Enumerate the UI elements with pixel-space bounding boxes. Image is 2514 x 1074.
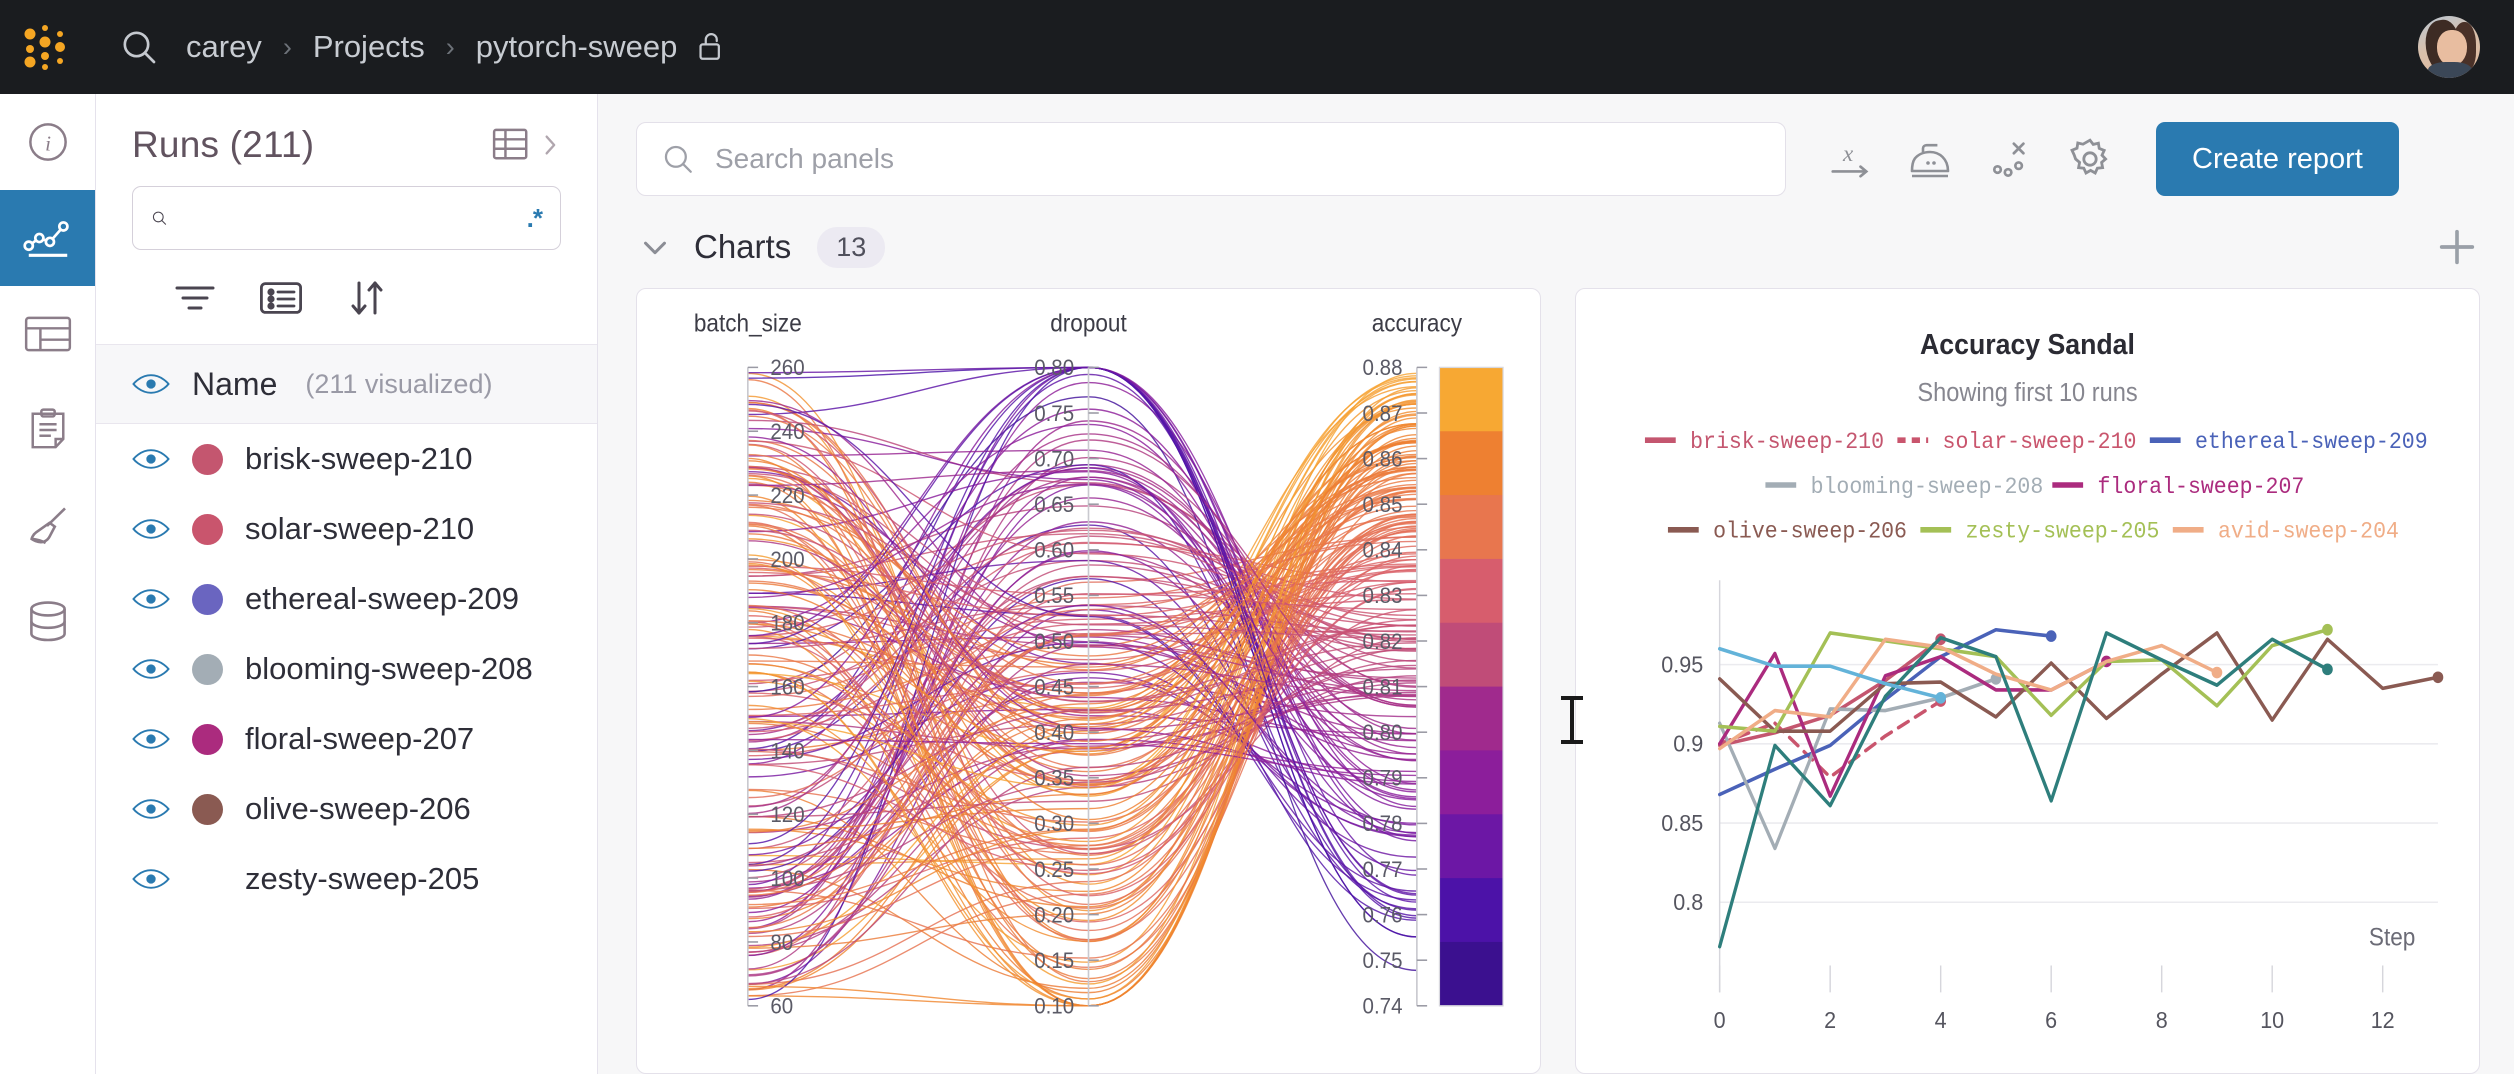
run-color-swatch	[192, 654, 223, 685]
workspace-toolbar: x	[598, 94, 2514, 196]
svg-text:0.20: 0.20	[1034, 903, 1074, 928]
list-item[interactable]: zesty-sweep-205	[96, 844, 597, 914]
breadcrumb-separator-2: ›	[429, 32, 472, 63]
svg-text:olive-sweep-206: olive-sweep-206	[1713, 518, 1907, 545]
run-name-label[interactable]: zesty-sweep-205	[245, 861, 479, 897]
svg-text:220: 220	[770, 483, 804, 508]
svg-text:8: 8	[2156, 1007, 2168, 1033]
accuracy-line-chart-panel[interactable]: Accuracy SandalShowing first 10 runsbris…	[1575, 288, 2480, 1074]
svg-text:0.74: 0.74	[1363, 994, 1403, 1019]
svg-text:0.35: 0.35	[1034, 766, 1074, 791]
eye-icon[interactable]	[132, 650, 170, 688]
sort-arrows-icon[interactable]	[324, 270, 410, 326]
svg-text:dropout: dropout	[1050, 311, 1127, 338]
breadcrumb-entity[interactable]: carey	[182, 29, 266, 65]
list-item[interactable]: ethereal-sweep-209	[96, 564, 597, 634]
run-name-label[interactable]: olive-sweep-206	[245, 791, 471, 827]
search-icon	[151, 201, 168, 235]
chevron-down-icon[interactable]	[638, 230, 672, 264]
eye-filled-icon[interactable]	[132, 365, 170, 403]
sidebar-item-artifacts[interactable]	[0, 574, 95, 670]
run-color-swatch	[192, 584, 223, 615]
svg-text:0.79: 0.79	[1363, 766, 1403, 791]
svg-text:0.30: 0.30	[1034, 811, 1074, 836]
gear-icon[interactable]	[2050, 122, 2130, 196]
charts-section-title: Charts	[694, 228, 791, 266]
breadcrumb-projects[interactable]: Projects	[309, 29, 429, 65]
sidebar-item-overview[interactable]: i	[0, 94, 95, 190]
svg-text:0.70: 0.70	[1034, 447, 1074, 472]
svg-text:100: 100	[770, 866, 804, 891]
svg-text:160: 160	[770, 675, 804, 700]
list-item[interactable]: olive-sweep-206	[96, 774, 597, 844]
svg-text:4: 4	[1935, 1007, 1947, 1033]
svg-text:6: 6	[2045, 1007, 2057, 1033]
sidebar-item-workspace[interactable]	[0, 190, 95, 286]
svg-text:Showing first 10 runs: Showing first 10 runs	[1917, 379, 2137, 407]
filter-icon[interactable]	[152, 270, 238, 326]
sidebar-item-sweeps[interactable]	[0, 478, 95, 574]
list-item[interactable]: blooming-sweep-208	[96, 634, 597, 704]
svg-text:10: 10	[2260, 1007, 2284, 1033]
wandb-dots-logo[interactable]	[0, 20, 96, 74]
page-title: Runs (211)	[132, 124, 314, 166]
svg-text:ethereal-sweep-209: ethereal-sweep-209	[2195, 428, 2428, 455]
svg-text:x: x	[1842, 141, 1854, 166]
svg-text:0.82: 0.82	[1363, 629, 1403, 654]
scatter-outlier-icon[interactable]	[1970, 122, 2050, 196]
svg-text:0.85: 0.85	[1363, 492, 1403, 517]
svg-text:0.75: 0.75	[1363, 948, 1403, 973]
workspace-icon-group: x	[1810, 122, 2130, 196]
svg-text:avid-sweep-204: avid-sweep-204	[2218, 518, 2399, 545]
svg-text:solar-sweep-210: solar-sweep-210	[1943, 428, 2137, 455]
svg-text:batch_size: batch_size	[694, 311, 802, 338]
runs-search-wrapper: .*	[96, 174, 597, 250]
eye-icon[interactable]	[132, 720, 170, 758]
eye-icon[interactable]	[132, 510, 170, 548]
search-input[interactable]	[178, 202, 517, 235]
svg-text:0.77: 0.77	[1363, 857, 1403, 882]
unlocked-padlock-icon[interactable]	[695, 30, 727, 64]
workspace: x	[598, 94, 2514, 1074]
run-color-swatch	[192, 514, 223, 545]
svg-text:0.8: 0.8	[1673, 889, 1703, 915]
svg-text:0.76: 0.76	[1363, 903, 1403, 928]
iron-smoothing-icon[interactable]	[1890, 122, 1970, 196]
global-search-icon[interactable]	[96, 27, 182, 67]
plus-icon[interactable]	[2434, 224, 2480, 270]
search-icon	[661, 142, 695, 176]
run-name-label[interactable]: solar-sweep-210	[245, 511, 474, 547]
eye-icon[interactable]	[132, 580, 170, 618]
panel-grid: batch_size608010012014016018020022024026…	[598, 288, 2514, 1074]
sidebar-item-runs-table[interactable]	[0, 286, 95, 382]
group-list-icon[interactable]	[238, 270, 324, 326]
list-item[interactable]: brisk-sweep-210	[96, 424, 597, 494]
svg-text:0.10: 0.10	[1034, 994, 1074, 1019]
svg-text:180: 180	[770, 611, 804, 636]
svg-text:0.40: 0.40	[1034, 720, 1074, 745]
svg-text:0.15: 0.15	[1034, 948, 1074, 973]
run-color-swatch	[192, 794, 223, 825]
runs-header: Runs (211)	[96, 94, 597, 174]
svg-text:140: 140	[770, 738, 804, 763]
search-panels-input[interactable]	[713, 142, 1761, 176]
svg-text:blooming-sweep-208: blooming-sweep-208	[1811, 473, 2044, 500]
svg-text:0.78: 0.78	[1363, 811, 1403, 836]
breadcrumb-separator: ›	[266, 32, 309, 63]
svg-text:brisk-sweep-210: brisk-sweep-210	[1690, 428, 1884, 455]
runs-toolbar	[96, 250, 597, 344]
left-icon-rail: i	[0, 94, 96, 1074]
breadcrumb-project[interactable]: pytorch-sweep	[472, 29, 682, 65]
run-name-label[interactable]: floral-sweep-207	[245, 721, 474, 757]
svg-text:80: 80	[770, 930, 793, 955]
breadcrumb: carey › Projects › pytorch-sweep	[182, 29, 727, 65]
svg-text:12: 12	[2371, 1007, 2395, 1033]
svg-text:0.55: 0.55	[1034, 583, 1074, 608]
runs-name-label: Name	[192, 366, 277, 403]
sidebar-item-reports[interactable]	[0, 382, 95, 478]
svg-text:0: 0	[1714, 1007, 1726, 1033]
run-name-label[interactable]: brisk-sweep-210	[245, 441, 472, 477]
svg-text:2: 2	[1824, 1007, 1836, 1033]
create-report-button[interactable]: Create report	[2156, 122, 2399, 196]
avatar[interactable]	[2418, 16, 2480, 78]
parallel-coordinates-panel[interactable]: batch_size608010012014016018020022024026…	[636, 288, 1541, 1074]
svg-text:0.80: 0.80	[1034, 355, 1074, 380]
svg-text:0.75: 0.75	[1034, 401, 1074, 426]
regex-wildcard-icon[interactable]: .*	[527, 203, 542, 234]
svg-text:i: i	[45, 132, 51, 156]
svg-text:0.50: 0.50	[1034, 629, 1074, 654]
run-name-label[interactable]: ethereal-sweep-209	[245, 581, 519, 617]
svg-text:0.45: 0.45	[1034, 675, 1074, 700]
runs-visualized-count: (211 visualized)	[305, 369, 492, 400]
runs-name-header[interactable]: Name (211 visualized)	[96, 344, 597, 424]
svg-text:200: 200	[770, 547, 804, 572]
svg-text:0.84: 0.84	[1363, 538, 1403, 563]
top-navigation-bar: carey › Projects › pytorch-sweep	[0, 0, 2514, 94]
svg-text:0.80: 0.80	[1363, 720, 1403, 745]
svg-text:accuracy: accuracy	[1372, 311, 1462, 338]
svg-text:0.83: 0.83	[1363, 583, 1403, 608]
svg-text:120: 120	[770, 802, 804, 827]
text-cursor	[1570, 700, 1574, 740]
svg-text:0.88: 0.88	[1363, 355, 1403, 380]
svg-text:Step: Step	[2369, 924, 2415, 951]
eye-icon[interactable]	[132, 860, 170, 898]
run-color-swatch	[192, 444, 223, 475]
svg-text:0.85: 0.85	[1661, 810, 1703, 836]
svg-text:0.60: 0.60	[1034, 538, 1074, 563]
svg-text:0.25: 0.25	[1034, 857, 1074, 882]
list-item[interactable]: floral-sweep-207	[96, 704, 597, 774]
svg-text:zesty-sweep-205: zesty-sweep-205	[1966, 518, 2160, 545]
svg-text:260: 260	[770, 355, 804, 380]
charts-section-count: 13	[817, 227, 885, 268]
panel-search-box[interactable]	[636, 122, 1786, 196]
svg-text:0.95: 0.95	[1661, 652, 1703, 678]
svg-text:0.86: 0.86	[1363, 447, 1403, 472]
svg-text:0.65: 0.65	[1034, 492, 1074, 517]
svg-text:60: 60	[770, 994, 793, 1019]
charts-section-header: Charts 13	[598, 196, 2514, 288]
table-expand-icon[interactable]	[492, 128, 561, 162]
runs-sidebar: Runs (211) .*	[96, 94, 598, 1074]
list-item[interactable]: solar-sweep-210	[96, 494, 597, 564]
run-list: brisk-sweep-210solar-sweep-210ethereal-s…	[96, 424, 597, 1074]
eye-icon[interactable]	[132, 440, 170, 478]
svg-text:Accuracy Sandal: Accuracy Sandal	[1920, 328, 2135, 360]
run-color-swatch	[192, 864, 223, 895]
svg-text:0.87: 0.87	[1363, 401, 1403, 426]
svg-text:0.9: 0.9	[1673, 731, 1703, 757]
svg-text:0.81: 0.81	[1363, 675, 1403, 700]
eye-icon[interactable]	[132, 790, 170, 828]
runs-search-box[interactable]: .*	[132, 186, 561, 250]
run-name-label[interactable]: blooming-sweep-208	[245, 651, 533, 687]
x-axis-icon[interactable]: x	[1810, 122, 1890, 196]
svg-text:240: 240	[770, 419, 804, 444]
svg-text:floral-sweep-207: floral-sweep-207	[2097, 473, 2304, 500]
run-color-swatch	[192, 724, 223, 755]
